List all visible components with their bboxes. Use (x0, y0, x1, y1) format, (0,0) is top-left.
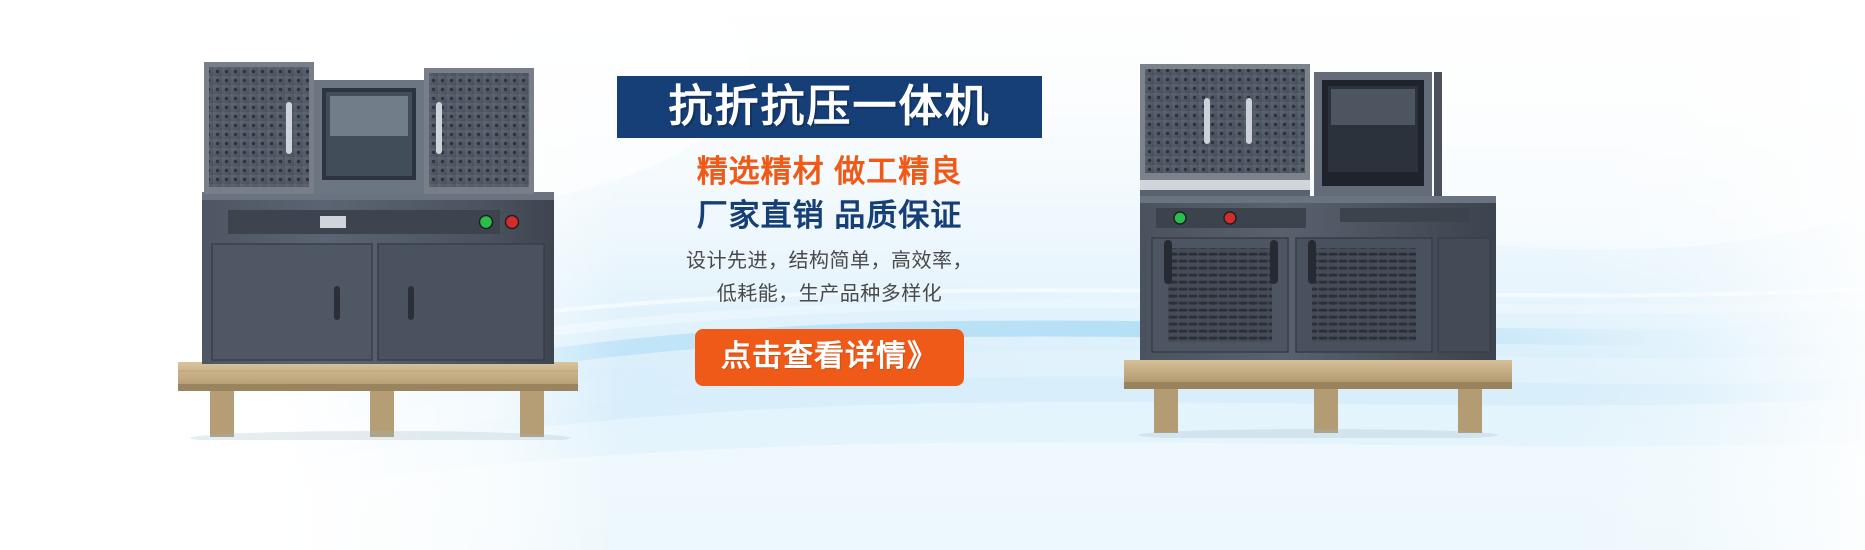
subtitle-blue: 厂家直销 品质保证 (617, 198, 1042, 234)
machine-photo-left (168, 40, 588, 440)
description-text: 设计先进，结构简单，高效率， 低耗能，生产品种多样化 (617, 245, 1042, 311)
view-details-button[interactable]: 点击查看详情》 (695, 329, 964, 386)
description-line-1: 设计先进，结构简单，高效率， (617, 245, 1042, 278)
product-banner: 抗折抗压一体机 精选精材 做工精良 厂家直销 品质保证 设计先进，结构简单，高效… (0, 0, 1865, 550)
machine-photo-right (1118, 48, 1518, 438)
page-title: 抗折抗压一体机 (669, 85, 991, 129)
background-right-fade (1565, 0, 1865, 550)
headline-band: 抗折抗压一体机 (617, 76, 1042, 138)
subtitle-orange: 精选精材 做工精良 (617, 154, 1042, 190)
cta-container: 点击查看详情》 (617, 329, 1042, 386)
banner-text-content: 抗折抗压一体机 精选精材 做工精良 厂家直销 品质保证 设计先进，结构简单，高效… (615, 76, 1085, 386)
description-line-2: 低耗能，生产品种多样化 (617, 278, 1042, 311)
